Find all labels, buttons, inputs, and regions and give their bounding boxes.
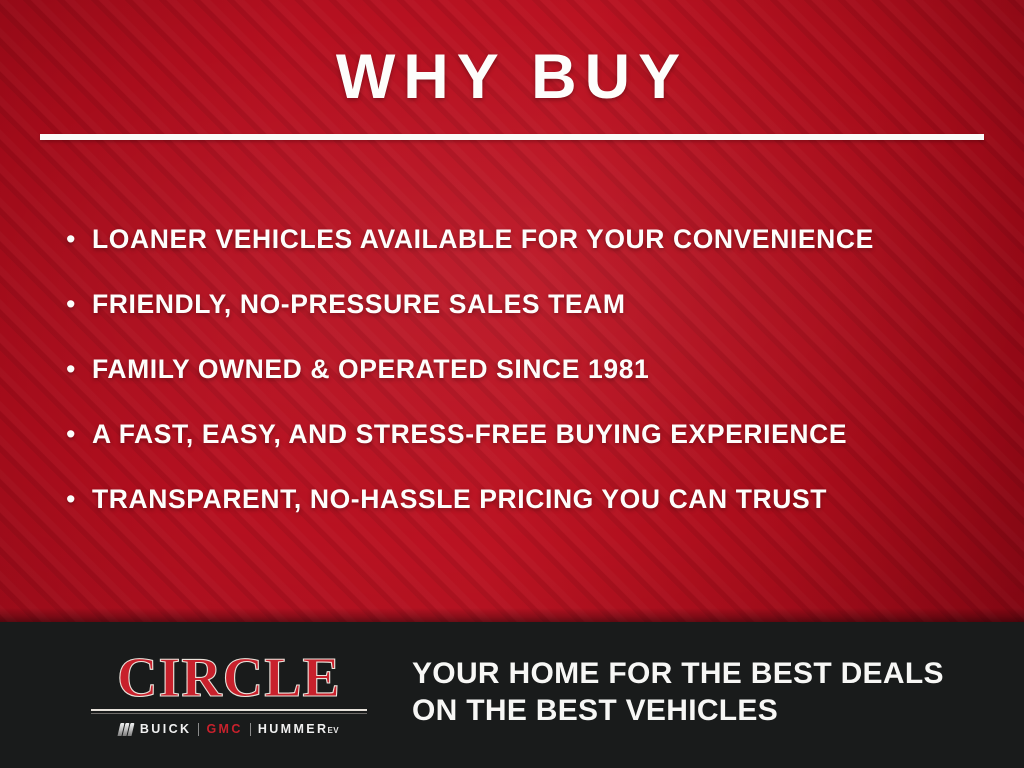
list-item: • FRIENDLY, NO-PRESSURE SALES TEAM — [66, 287, 1006, 352]
list-item-label: LOANER VEHICLES AVAILABLE FOR YOUR CONVE… — [92, 222, 874, 256]
list-item: • FAMILY OWNED & OPERATED SINCE 1981 — [66, 352, 1006, 417]
dealer-logo: CIRCLE BUICK GMC HUMMER EV — [88, 650, 370, 737]
bullet-marker-icon: • — [66, 287, 92, 321]
title-divider — [40, 134, 984, 140]
list-item-label: TRANSPARENT, NO-HASSLE PRICING YOU CAN T… — [92, 482, 827, 516]
brand-label-gmc: GMC — [206, 722, 242, 736]
logo-divider — [91, 709, 367, 711]
footer-tagline-line-1: YOUR HOME FOR THE BEST DEALS — [412, 655, 992, 692]
brand-label-hummer-ev: EV — [327, 726, 339, 736]
brand-lineup: BUICK GMC HUMMER EV — [88, 721, 370, 737]
why-buy-list: • LOANER VEHICLES AVAILABLE FOR YOUR CON… — [66, 222, 1006, 547]
list-item: • TRANSPARENT, NO-HASSLE PRICING YOU CAN… — [66, 482, 1006, 547]
slide-canvas: WHY BUY • LOANER VEHICLES AVAILABLE FOR … — [0, 0, 1024, 768]
footer-tagline: YOUR HOME FOR THE BEST DEALS ON THE BEST… — [412, 655, 992, 729]
page-title: WHY BUY — [0, 44, 1024, 110]
brand-label-buick: BUICK — [140, 722, 192, 736]
bullet-marker-icon: • — [66, 482, 92, 516]
brand-label-hummer: HUMMER — [258, 722, 329, 736]
brand-separator-icon — [250, 723, 251, 736]
brand-label-hummer-group: HUMMER EV — [258, 722, 339, 736]
bullet-marker-icon: • — [66, 222, 92, 256]
brand-separator-icon — [198, 723, 199, 736]
list-item: • A FAST, EASY, AND STRESS-FREE BUYING E… — [66, 417, 1006, 482]
dealer-wordmark: CIRCLE — [88, 650, 370, 706]
bullet-marker-icon: • — [66, 352, 92, 386]
buick-trishield-icon — [119, 722, 133, 736]
bullet-marker-icon: • — [66, 417, 92, 451]
list-item: • LOANER VEHICLES AVAILABLE FOR YOUR CON… — [66, 222, 1006, 287]
logo-divider-shadow — [91, 713, 367, 714]
footer-bar: CIRCLE BUICK GMC HUMMER EV YOUR HOME FOR… — [0, 622, 1024, 768]
list-item-label: FRIENDLY, NO-PRESSURE SALES TEAM — [92, 287, 626, 321]
footer-tagline-line-2: ON THE BEST VEHICLES — [412, 692, 992, 729]
list-item-label: FAMILY OWNED & OPERATED SINCE 1981 — [92, 352, 649, 386]
list-item-label: A FAST, EASY, AND STRESS-FREE BUYING EXP… — [92, 417, 847, 451]
